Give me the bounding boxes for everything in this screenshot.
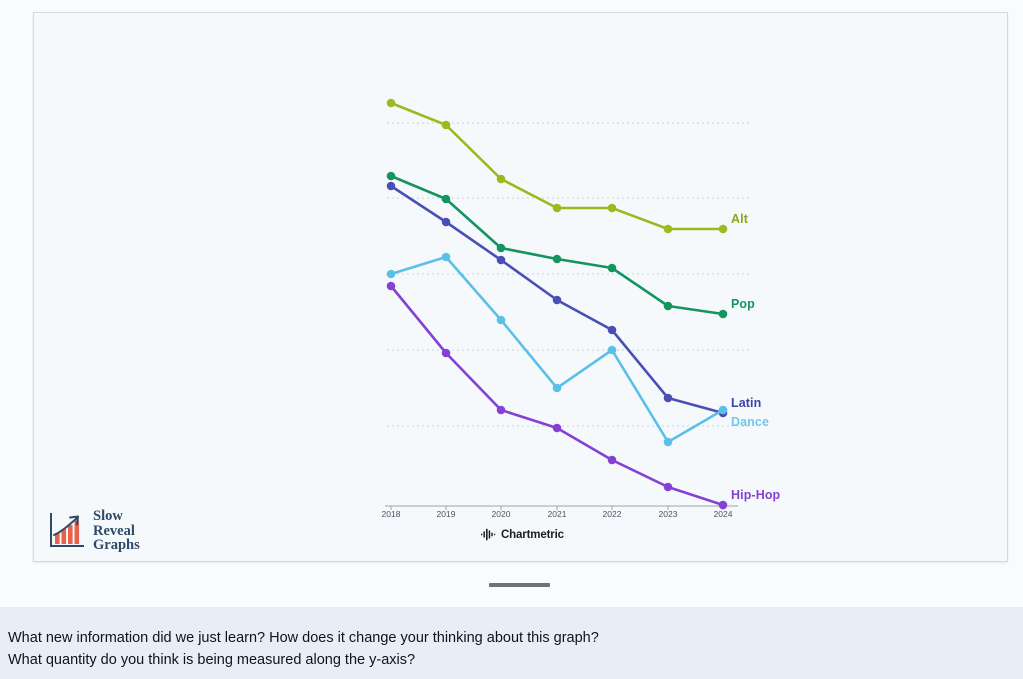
data-point[interactable] xyxy=(553,255,560,262)
logo-line-2: Reveal xyxy=(93,524,140,539)
x-tick-label-2022: 2022 xyxy=(603,509,622,519)
series-lines xyxy=(387,99,726,508)
data-point[interactable] xyxy=(719,310,726,317)
logo-wordmark: Slow Reveal Graphs xyxy=(93,509,140,553)
line-chart: 2018201920202021202220232024 AltPopLatin… xyxy=(34,13,1009,563)
slow-reveal-graphs-logo: Slow Reveal Graphs xyxy=(46,509,140,553)
waveform-icon xyxy=(481,528,496,541)
series-label-pop: Pop xyxy=(731,297,755,311)
data-point[interactable] xyxy=(553,296,560,303)
data-point[interactable] xyxy=(553,204,560,211)
series-label-alt: Alt xyxy=(731,212,748,226)
data-point[interactable] xyxy=(553,424,560,431)
data-point[interactable] xyxy=(442,253,449,260)
data-point[interactable] xyxy=(664,483,671,490)
data-point[interactable] xyxy=(553,384,560,391)
logo-line-3: Graphs xyxy=(93,538,140,553)
data-point[interactable] xyxy=(664,302,671,309)
data-point[interactable] xyxy=(497,406,504,413)
data-point[interactable] xyxy=(719,406,726,413)
data-point[interactable] xyxy=(719,225,726,232)
series-line-hip-hop xyxy=(391,286,723,505)
chart-canvas xyxy=(34,13,1009,563)
x-tick-label-2019: 2019 xyxy=(437,509,456,519)
data-point[interactable] xyxy=(442,121,449,128)
data-point[interactable] xyxy=(387,182,394,189)
x-tick-label-2021: 2021 xyxy=(548,509,567,519)
x-tick-label-2023: 2023 xyxy=(659,509,678,519)
x-tick-label-2024: 2024 xyxy=(714,509,733,519)
resize-handle[interactable] xyxy=(489,583,550,587)
prompt-block: What new information did we just learn? … xyxy=(0,607,1023,679)
chartmetric-label: Chartmetric xyxy=(501,529,564,541)
data-point[interactable] xyxy=(442,218,449,225)
series-label-latin: Latin xyxy=(731,396,761,410)
data-point[interactable] xyxy=(442,195,449,202)
bar-chart-arrow-icon xyxy=(46,511,86,551)
prompt-line-2: What quantity do you think is being meas… xyxy=(8,649,1015,671)
data-point[interactable] xyxy=(387,99,394,106)
data-point[interactable] xyxy=(497,256,504,263)
slide-card: 2018201920202021202220232024 AltPopLatin… xyxy=(33,12,1008,562)
data-point[interactable] xyxy=(608,264,615,271)
series-line-pop xyxy=(391,176,723,314)
x-tick-label-2018: 2018 xyxy=(382,509,401,519)
data-point[interactable] xyxy=(608,204,615,211)
data-point[interactable] xyxy=(497,316,504,323)
logo-line-1: Slow xyxy=(93,509,140,524)
data-point[interactable] xyxy=(608,456,615,463)
data-point[interactable] xyxy=(664,394,671,401)
series-label-dance: Dance xyxy=(731,415,769,429)
data-point[interactable] xyxy=(719,501,726,508)
x-tick-label-2020: 2020 xyxy=(492,509,511,519)
data-point[interactable] xyxy=(387,270,394,277)
data-point[interactable] xyxy=(664,225,671,232)
data-point[interactable] xyxy=(664,438,671,445)
data-point[interactable] xyxy=(608,326,615,333)
data-point[interactable] xyxy=(497,175,504,182)
data-point[interactable] xyxy=(387,172,394,179)
data-point[interactable] xyxy=(608,346,615,353)
data-point[interactable] xyxy=(442,349,449,356)
prompt-line-1: What new information did we just learn? … xyxy=(8,627,1015,649)
chartmetric-credit: Chartmetric xyxy=(481,528,564,541)
series-label-hip-hop: Hip-Hop xyxy=(731,488,780,502)
data-point[interactable] xyxy=(497,244,504,251)
data-point[interactable] xyxy=(387,282,394,289)
